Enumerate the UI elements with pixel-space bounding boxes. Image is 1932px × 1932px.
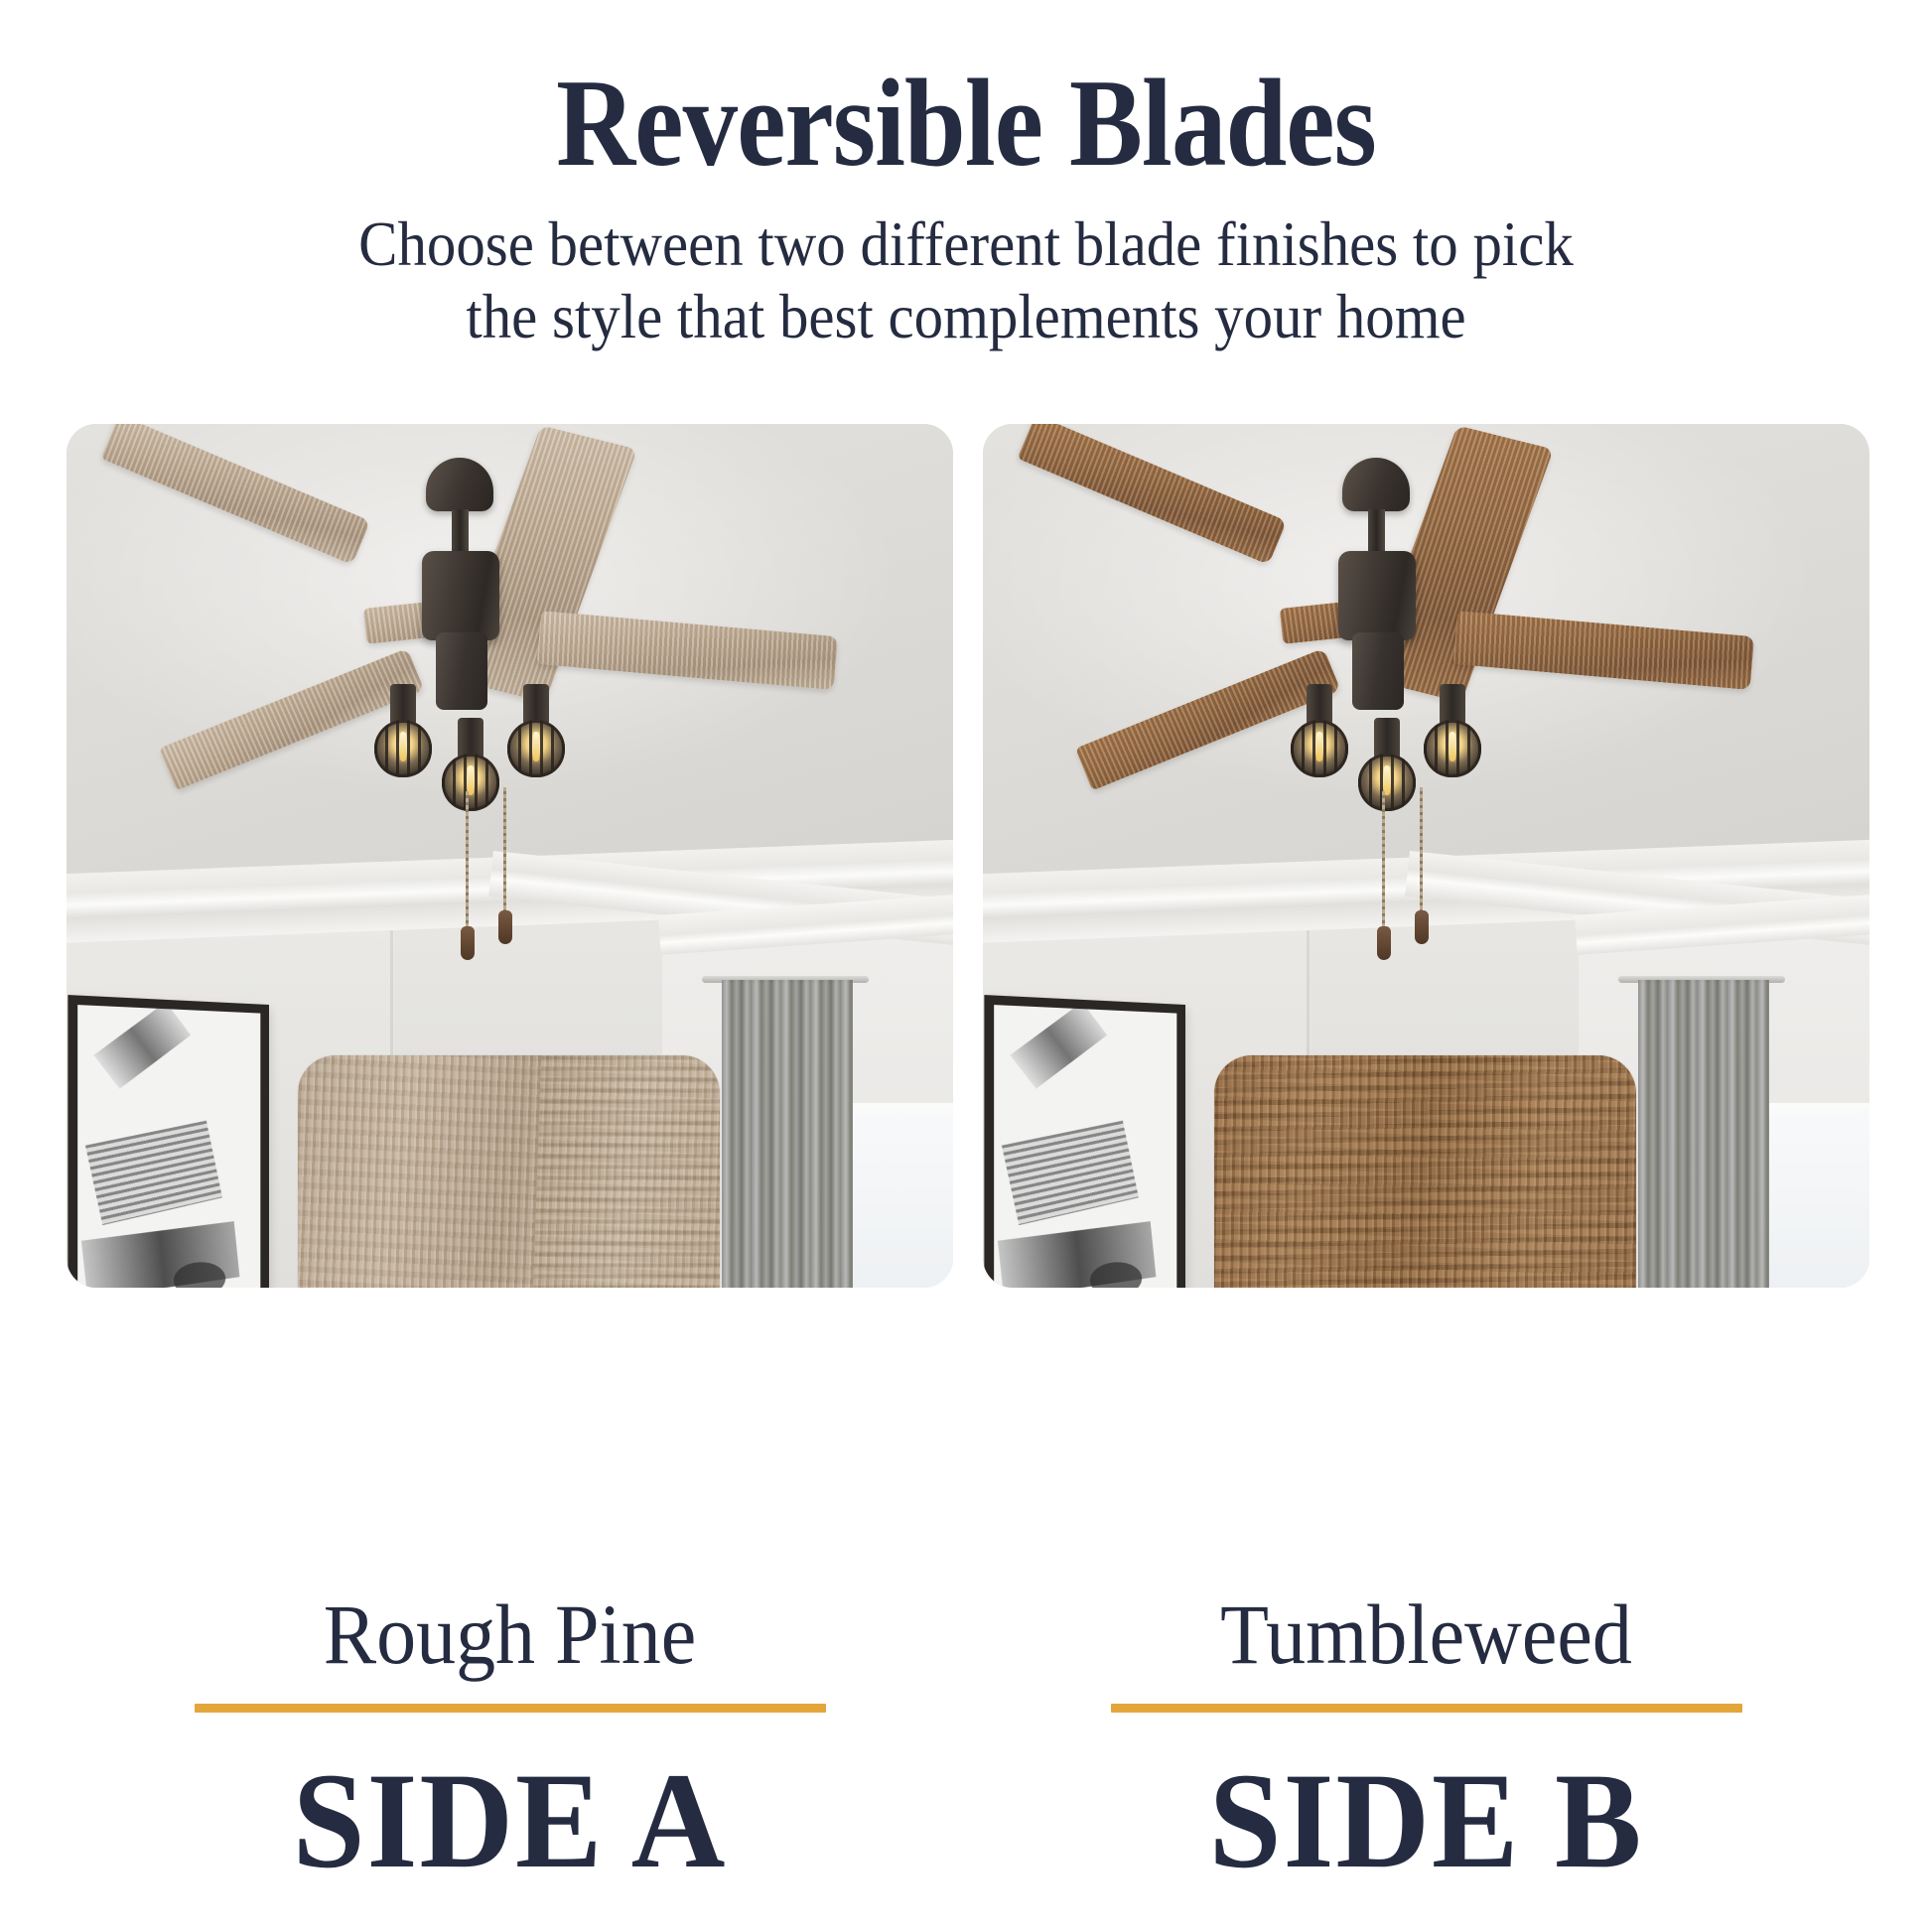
fan-canopy: [426, 458, 493, 511]
artwork-stroke: [1010, 1002, 1107, 1089]
fan-switch-housing: [1352, 632, 1404, 710]
fan-blade: [1453, 611, 1755, 690]
fan-light-cage: [442, 718, 499, 813]
fan-light-cage: [1424, 684, 1481, 779]
pull-chain-finial: [1377, 926, 1391, 960]
fan-motor-housing: [1338, 551, 1416, 640]
fan-light-cage: [1358, 718, 1416, 813]
pull-chain: [466, 791, 469, 930]
pull-chain-finial: [498, 910, 512, 944]
fan-blade: [1017, 424, 1287, 565]
finish-name-side-b: Tumbleweed: [1014, 1591, 1838, 1677]
gold-divider-a: [195, 1704, 826, 1713]
subtitle-line-2: the style that best complements your hom…: [77, 281, 1855, 353]
page-subtitle: Choose between two different blade finis…: [77, 187, 1855, 353]
ceiling-fan-a: [67, 424, 953, 940]
pull-chain-finial: [1415, 910, 1429, 944]
photo-card-side-a: [67, 424, 953, 1288]
lamp-cage-bars: [374, 720, 432, 777]
lamp-cage-bars: [1424, 720, 1481, 777]
fan-light-cage: [1291, 684, 1348, 779]
fan-light-cage: [374, 684, 432, 779]
column-side-a: Rough Pine SIDE A: [67, 424, 953, 1288]
pull-chain: [1382, 791, 1385, 930]
infographic-page: Reversible Blades Choose between two dif…: [0, 0, 1932, 1932]
caption-side-a: Rough Pine SIDE A: [67, 1591, 953, 1889]
pull-chain: [1420, 787, 1423, 914]
fan-blade: [100, 424, 370, 565]
curtain-a: [722, 980, 853, 1288]
framed-artwork-a: [68, 995, 269, 1288]
fan-switch-housing: [436, 632, 487, 710]
artwork-stroke: [85, 1121, 222, 1225]
artwork-stroke: [1002, 1121, 1139, 1225]
fan-motor-housing: [422, 551, 499, 640]
photo-card-side-b: [983, 424, 1869, 1288]
lamp-cage-bars: [1291, 720, 1348, 777]
side-label-a: SIDE A: [88, 1752, 930, 1889]
finish-name-side-a: Rough Pine: [97, 1591, 921, 1677]
fan-canopy: [1342, 458, 1410, 511]
lamp-cage-bars: [442, 754, 499, 811]
wood-swatch-rough-pine: [298, 1055, 720, 1288]
artwork-stroke: [93, 1002, 191, 1089]
page-title: Reversible Blades: [116, 0, 1816, 187]
ceiling-fan-b: [983, 424, 1869, 940]
pull-chain-finial: [461, 926, 475, 960]
gold-divider-b: [1111, 1704, 1742, 1713]
framed-artwork-b: [984, 995, 1185, 1288]
lamp-cage-bars: [507, 720, 565, 777]
header: Reversible Blades Choose between two dif…: [0, 0, 1932, 353]
column-side-b: Tumbleweed SIDE B: [983, 424, 1869, 1288]
window-b: [1769, 1109, 1869, 1288]
fan-light-cage: [507, 684, 565, 779]
side-label-b: SIDE B: [1005, 1752, 1847, 1889]
caption-side-b: Tumbleweed SIDE B: [983, 1591, 1869, 1889]
pull-chain: [503, 787, 506, 914]
wood-swatch-tumbleweed: [1214, 1055, 1636, 1288]
lamp-cage-bars: [1358, 754, 1416, 811]
curtain-b: [1638, 980, 1769, 1288]
window-a: [853, 1109, 953, 1288]
fan-blade: [537, 611, 839, 690]
subtitle-line-1: Choose between two different blade finis…: [77, 208, 1855, 281]
